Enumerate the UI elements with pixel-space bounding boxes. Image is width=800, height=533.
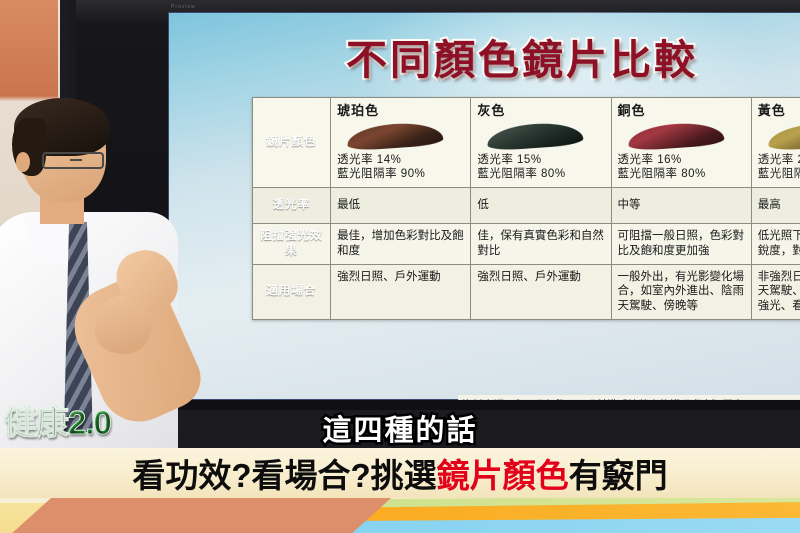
source-citation: 資料來源：《3C眼有救了：眼科權威陳瑩山的護眼處方》原水 <box>458 395 800 400</box>
table-cell-gray-usecase: 強烈日照、戶外運動 <box>471 264 611 319</box>
lower-third-banner: 看功效?看場合?挑選鏡片顏色有竅門 <box>0 448 800 498</box>
table-row: 阻擋強光效果 最佳，增加色彩對比及飽和度 佳，保有真實色彩和自然對比 可阻擋一般… <box>253 224 800 264</box>
table-cell-yellow-glare: 低光照下，可提高視覺敏銳度，對比加強 <box>751 224 800 264</box>
host-eyeglasses <box>42 152 104 169</box>
lens-comparison-table: 鏡片顏色 琥珀色 透光率 14% 藍光阻隔率 90% 灰色 透光率 15% 藍光… <box>252 97 800 320</box>
banner-text: 看功效?看場合?挑選鏡片顏色有竅門 <box>132 449 667 497</box>
yellow-blueblock-spec: 藍光阻隔率 75% <box>758 168 800 180</box>
banner-text-after: 有竅門 <box>569 457 668 494</box>
column-name-amber: 琥珀色 <box>337 103 464 120</box>
stripe-salmon <box>4 498 395 533</box>
table-cell-gray-glare: 佳，保有真實色彩和自然對比 <box>471 224 611 264</box>
table-row: 適用場合 強烈日照、戶外運動 強烈日照、戶外運動 一般外出，有光影變化場合，如室… <box>253 264 800 319</box>
table-cell-amber-header: 琥珀色 透光率 14% 藍光阻隔率 90% <box>331 98 471 188</box>
copper-blueblock-spec: 藍光阻隔率 80% <box>618 168 706 180</box>
row-label-use-case: 適用場合 <box>253 264 331 319</box>
column-name-yellow: 黃色 <box>758 103 800 120</box>
copper-lens-icon <box>627 120 724 151</box>
gray-transmittance-spec: 透光率 15% <box>477 154 541 166</box>
table-cell-amber-glare: 最佳，增加色彩對比及飽和度 <box>331 224 471 264</box>
column-name-gray: 灰色 <box>477 103 604 120</box>
presentation-screen: 不同顏色鏡片比較 鏡片顏色 琥珀色 透光率 14% 藍光阻隔率 90% 灰色 <box>168 12 800 400</box>
banner-decorative-stripes <box>0 498 800 533</box>
table-cell-gray-transmittance: 低 <box>471 188 611 224</box>
yellow-transmittance-spec: 透光率 27% <box>758 154 800 166</box>
monitor-brand-logo: Proview <box>171 4 196 10</box>
row-label-transmittance: 透光率 <box>253 188 331 224</box>
table-cell-yellow-header: 黃色 透光率 27% 藍光阻隔率 75% <box>751 98 800 188</box>
table-cell-copper-usecase: 一般外出，有光影變化場合，如室內外進出、陰雨天駕駛、傍晚等 <box>611 264 751 319</box>
banner-text-before: 看功效?看場合?挑選 <box>132 457 436 494</box>
copper-transmittance-spec: 透光率 16% <box>618 154 682 166</box>
table-cell-yellow-transmittance: 最高 <box>751 188 800 224</box>
yellow-lens-icon <box>767 120 800 151</box>
gray-blueblock-spec: 藍光阻隔率 80% <box>477 168 565 180</box>
amber-blueblock-spec: 藍光阻隔率 90% <box>337 168 425 180</box>
amber-transmittance-spec: 透光率 14% <box>337 154 401 166</box>
gray-lens-icon <box>487 120 584 151</box>
table-cell-copper-glare: 可阻擋一般日照，色彩對比及飽和度更加強 <box>611 224 751 264</box>
subtitle-upper: 這四種的話 <box>0 407 800 449</box>
row-label-glare-effect: 阻擋強光效果 <box>253 224 331 264</box>
table-row: 鏡片顏色 琥珀色 透光率 14% 藍光阻隔率 90% 灰色 透光率 15% 藍光… <box>253 98 800 188</box>
table-cell-copper-transmittance: 中等 <box>611 188 751 224</box>
table-cell-amber-transmittance: 最低 <box>331 188 471 224</box>
host-ear <box>16 152 30 172</box>
table-cell-copper-header: 銅色 透光率 16% 藍光阻隔率 80% <box>611 98 751 188</box>
row-label-lens-color: 鏡片顏色 <box>253 98 331 188</box>
banner-text-highlight: 鏡片顏色 <box>437 457 569 494</box>
table-cell-amber-usecase: 強烈日照、戶外運動 <box>331 264 471 319</box>
table-row: 透光率 最低 低 中等 最高 <box>253 188 800 224</box>
table-cell-yellow-usecase: 非強烈日照環境，如陰雨天駕駛、傍晚，預防室內強光、看電視、3C <box>751 264 800 319</box>
column-name-copper: 銅色 <box>618 103 745 120</box>
table-cell-gray-header: 灰色 透光率 15% 藍光阻隔率 80% <box>471 98 611 188</box>
amber-lens-icon <box>346 120 443 151</box>
slide-title: 不同顏色鏡片比較 <box>168 26 800 86</box>
